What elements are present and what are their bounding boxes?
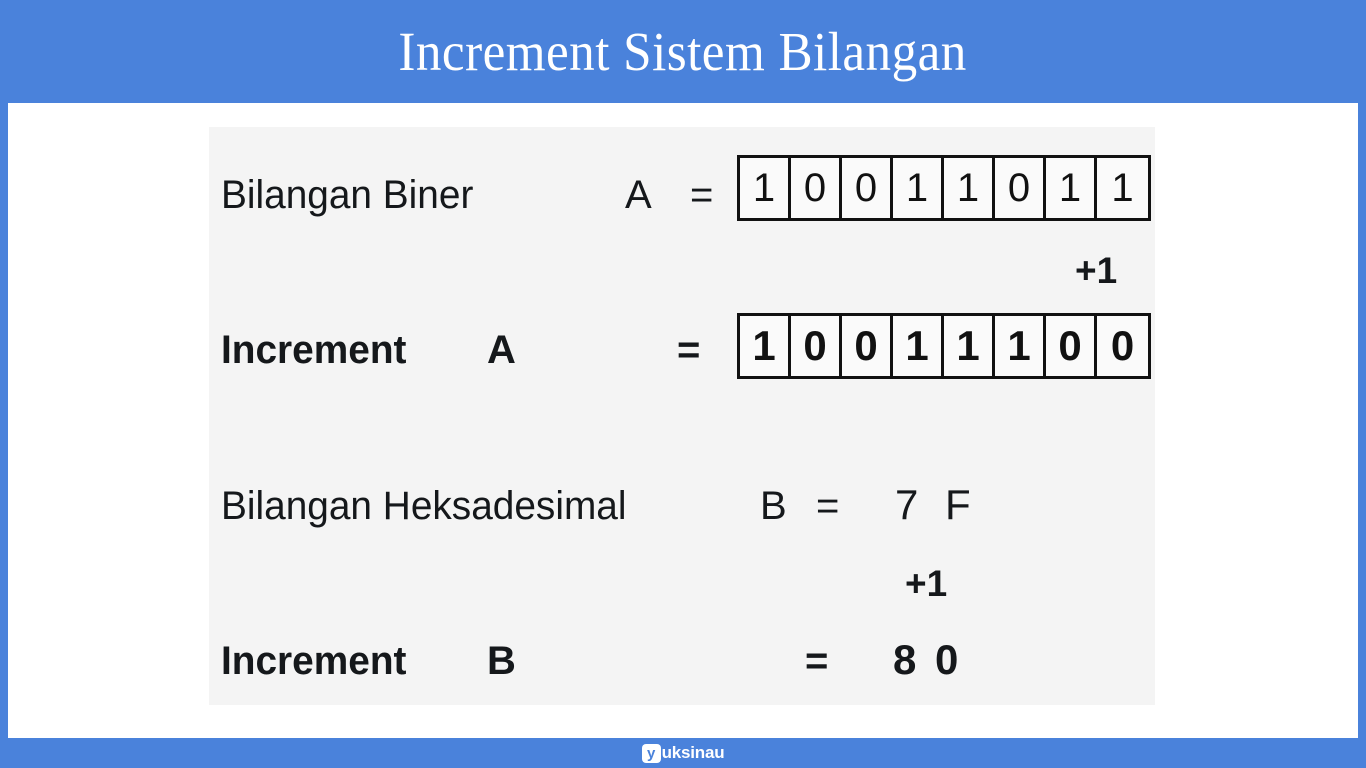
watermark: y uksinau — [642, 743, 725, 763]
hex-result-operand: B — [487, 641, 516, 681]
increment-figure: Bilangan Biner A = 1 0 0 1 1 0 1 1 +1 In… — [209, 127, 1155, 705]
bit-cell: 1 — [740, 158, 791, 218]
bit-cell: 1 — [893, 158, 944, 218]
bit-cell: 1 — [995, 316, 1046, 376]
yuksinau-logo-icon: y — [642, 744, 661, 763]
binary-source-bit-row: 1 0 0 1 1 0 1 1 — [737, 155, 1151, 221]
slide-footer: y uksinau — [0, 738, 1366, 768]
hex-source-digit: 7 — [895, 484, 918, 526]
bit-cell: 0 — [791, 316, 842, 376]
binary-result-operand: A — [487, 330, 516, 370]
hex-result-label: Increment — [221, 641, 406, 681]
binary-result-equals: = — [677, 330, 700, 370]
binary-result-bit-row: 1 0 0 1 1 1 0 0 — [737, 313, 1151, 379]
bit-cell: 1 — [1097, 158, 1148, 218]
slide: Increment Sistem Bilangan Bilangan Biner… — [0, 0, 1366, 768]
bit-cell: 1 — [893, 316, 944, 376]
binary-source-equals: = — [690, 175, 713, 215]
hex-result-digit: 8 — [893, 639, 916, 681]
slide-header: Increment Sistem Bilangan — [0, 0, 1366, 103]
bit-cell: 0 — [791, 158, 842, 218]
hex-result-digit: 0 — [935, 639, 958, 681]
hex-source-operand: B — [760, 486, 787, 526]
binary-source-operand: A — [625, 175, 652, 215]
bit-cell: 0 — [842, 316, 893, 376]
binary-carry-note: +1 — [1075, 252, 1117, 289]
content-card: Bilangan Biner A = 1 0 0 1 1 0 1 1 +1 In… — [8, 103, 1358, 738]
bit-cell: 1 — [740, 316, 791, 376]
bit-cell: 1 — [944, 316, 995, 376]
hex-source-equals: = — [816, 486, 839, 526]
bit-cell: 1 — [944, 158, 995, 218]
bit-cell: 0 — [995, 158, 1046, 218]
hex-source-digit: F — [945, 484, 971, 526]
bit-cell: 0 — [1097, 316, 1148, 376]
binary-source-label: Bilangan Biner — [221, 175, 473, 215]
bit-cell: 0 — [1046, 316, 1097, 376]
hex-result-equals: = — [805, 641, 828, 681]
page-title: Increment Sistem Bilangan — [399, 24, 967, 79]
bit-cell: 1 — [1046, 158, 1097, 218]
hex-source-label: Bilangan Heksadesimal — [221, 486, 626, 526]
hex-carry-note: +1 — [905, 565, 947, 602]
bit-cell: 0 — [842, 158, 893, 218]
watermark-label: uksinau — [662, 743, 725, 763]
binary-result-label: Increment — [221, 330, 406, 370]
